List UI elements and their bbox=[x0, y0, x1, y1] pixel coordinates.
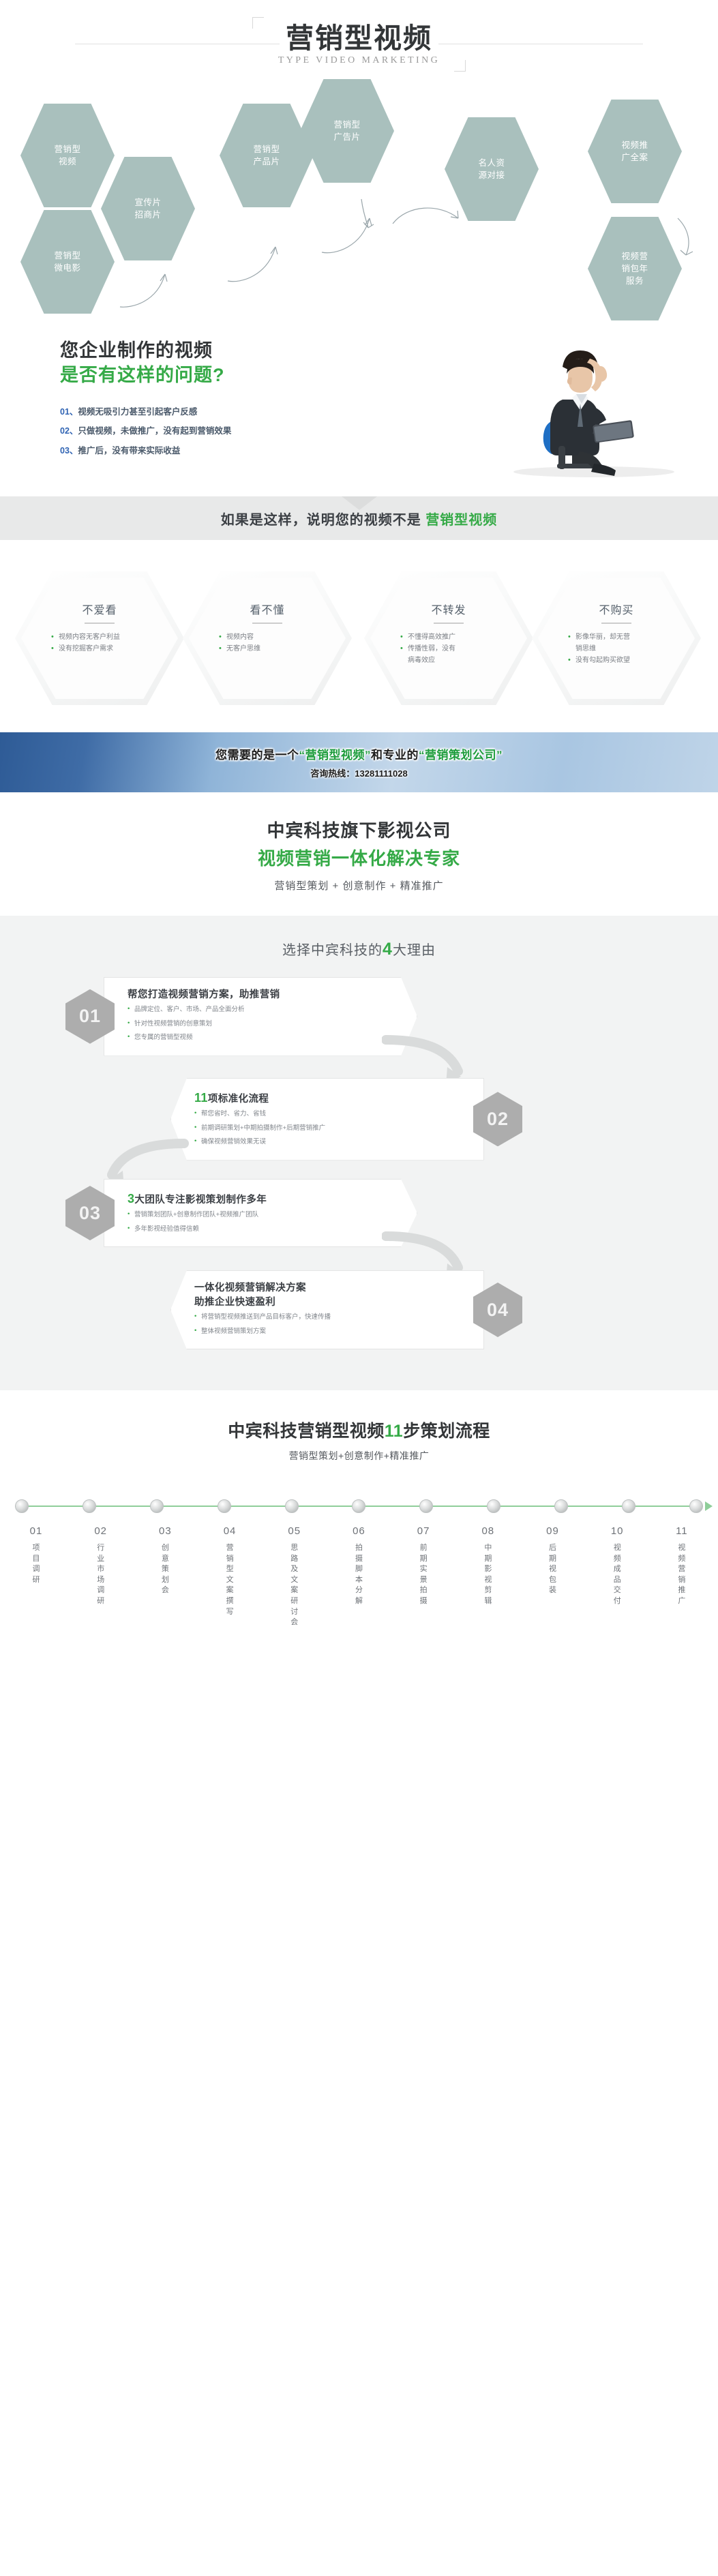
cta-headline-a: 您需要的是一个 bbox=[215, 749, 299, 762]
reason-2-card: 11项标准化流程 帮您省时、省力、省钱 前期调研策划+中期拍摄制作+后期营销推广… bbox=[170, 1078, 484, 1160]
reason-row-4[interactable]: 一体化视频营销解决方案 助推企业快速盈利 将营销型视频推送到产品目标客户，快速传… bbox=[170, 1270, 522, 1349]
businessman-photo bbox=[492, 318, 696, 478]
symptom-card-1-bullet-2: 没有挖掘客户需求 bbox=[51, 643, 148, 655]
symptom-card-3-bullet-2: 传播性弱，没有 bbox=[400, 643, 497, 655]
masthead-frame: 营销型视频 TYPE VIDEO MARKETING bbox=[252, 17, 466, 72]
step-6-label: 拍 摄 脚 本 分 解 bbox=[338, 1543, 380, 1607]
step-8-num: 08 bbox=[467, 1525, 509, 1537]
symptom-card-2-bullet-2: 无客户思维 bbox=[219, 643, 316, 655]
hex-marketing-video[interactable]: 营销型 视频 bbox=[20, 104, 115, 207]
reason-3-bullet-1: 营销策划团队+创意制作团队+视频推广团队 bbox=[128, 1209, 399, 1222]
symptom-card-1-title: 不爱看 bbox=[82, 601, 117, 617]
steps-subtitle: 营销型策划+创意制作+精准推广 bbox=[0, 1449, 718, 1463]
step-dot-2[interactable] bbox=[83, 1499, 96, 1513]
reason-4-heading: 一体化视频营销解决方案 助推企业快速盈利 bbox=[194, 1281, 466, 1310]
cta-quote-1: “营销型视频” bbox=[299, 749, 372, 762]
symptom-card-4[interactable]: 不购买 影像华丽，却无营 销思维 没有勾起购买欲望 bbox=[532, 571, 701, 705]
symptom-card-2-divider bbox=[252, 623, 282, 624]
problem-item-2-sep: 、 bbox=[70, 426, 78, 436]
hex-annual-service[interactable]: 视频营 销包年 服务 bbox=[588, 217, 682, 320]
reason-1-bullet-3: 您专属的营销型视频 bbox=[128, 1032, 399, 1045]
step-8-label: 中 期 影 视 剪 辑 bbox=[467, 1543, 509, 1607]
steps-title: 中宾科技营销型视频11步策划流程 bbox=[0, 1418, 718, 1442]
problem-item-1-num: 01 bbox=[60, 407, 70, 417]
connector-arrow-1 bbox=[117, 263, 179, 311]
grey-conclusion-strip: 如果是这样，说明您的视频不是 营销型视频 bbox=[0, 496, 718, 540]
reasons-title: 选择中宾科技的4大理由 bbox=[0, 939, 718, 959]
company-heading-1: 中宾科技旗下影视公司 bbox=[0, 817, 718, 842]
reason-3-bullet-2: 多年影视经验值得信赖 bbox=[128, 1223, 399, 1236]
step-11: 11视 频 营 销 推 广 bbox=[661, 1525, 703, 1628]
problem-item-1-text: 视频无吸引力甚至引起客户反感 bbox=[78, 407, 197, 417]
reason-2-heading-number: 11 bbox=[194, 1091, 208, 1105]
steps-labels: 01项 目 调 研 02行 业 市 场 调 研 03创 意 策 划 会 04营 … bbox=[15, 1525, 703, 1628]
cta-banner: 您需要的是一个“营销型视频”和专业的“营销策划公司” 咨询热线：13281111… bbox=[0, 732, 718, 792]
grey-strip-text: 如果是这样，说明您的视频不是 营销型视频 bbox=[221, 509, 498, 528]
symptom-card-2[interactable]: 看不懂 视频内容 无客户思维 bbox=[183, 571, 352, 705]
hex-promo-film[interactable]: 宣传片 招商片 bbox=[101, 157, 195, 260]
step-1-label: 项 目 调 研 bbox=[15, 1543, 57, 1585]
step-10: 10视 频 成 品 交 付 bbox=[596, 1525, 638, 1628]
reason-2-heading-text: 项标准化流程 bbox=[208, 1094, 269, 1105]
reason-3-heading-number: 3 bbox=[128, 1192, 134, 1205]
cta-quote-2: “营销策划公司” bbox=[419, 749, 503, 762]
steps-title-number: 11 bbox=[385, 1422, 403, 1441]
connector-arrow-4 bbox=[355, 198, 389, 239]
step-9: 09后 期 视 包 装 bbox=[532, 1525, 574, 1628]
masthead: 营销型视频 TYPE VIDEO MARKETING bbox=[0, 0, 718, 89]
reason-row-2[interactable]: 11项标准化流程 帮您省时、省力、省钱 前期调研策划+中期拍摄制作+后期营销推广… bbox=[170, 1078, 522, 1160]
step-10-num: 10 bbox=[596, 1525, 638, 1537]
symptom-card-3-title: 不转发 bbox=[431, 601, 466, 617]
step-6: 06拍 摄 脚 本 分 解 bbox=[338, 1525, 380, 1628]
step-7: 07前 期 实 景 拍 摄 bbox=[402, 1525, 445, 1628]
connector-arrow-6 bbox=[674, 215, 708, 263]
step-3-num: 03 bbox=[144, 1525, 186, 1537]
step-10-label: 视 频 成 品 交 付 bbox=[596, 1543, 638, 1607]
symptom-card-4-bullet-3: 没有勾起购买欲望 bbox=[568, 655, 665, 666]
symptom-card-2-bullet-1: 视频内容 bbox=[219, 631, 316, 643]
reason-row-1[interactable]: 01 帮您打造视频营销方案，助推营销 品牌定位、客户、市场、产品全面分析 针对性… bbox=[65, 977, 417, 1056]
symptom-card-1[interactable]: 不爱看 视频内容无客户利益 没有挖掘客户需求 bbox=[15, 571, 184, 705]
reason-3-heading-text: 大团队专注影视策划制作多年 bbox=[134, 1195, 267, 1205]
hex-promotion-plan[interactable]: 视频推 广全案 bbox=[588, 100, 682, 203]
step-3-label: 创 意 策 划 会 bbox=[144, 1543, 186, 1596]
symptom-card-2-title: 看不懂 bbox=[250, 601, 284, 617]
steps-timeline bbox=[15, 1493, 703, 1521]
company-heading-2: 视频营销一体化解决专家 bbox=[0, 845, 718, 870]
step-dot-5[interactable] bbox=[285, 1499, 299, 1513]
step-6-num: 06 bbox=[338, 1525, 380, 1537]
symptom-card-3-divider bbox=[434, 623, 464, 624]
reasons-title-a: 选择中宾科技的 bbox=[282, 943, 383, 958]
step-5-num: 05 bbox=[273, 1525, 316, 1537]
connector-arrow-5 bbox=[390, 202, 472, 236]
symptom-card-row: 不爱看 视频内容无客户利益 没有挖掘客户需求 看不懂 视频内容 无客户思维 不转… bbox=[0, 559, 718, 723]
step-dot-8[interactable] bbox=[487, 1499, 500, 1513]
grey-strip-highlight: 营销型视频 bbox=[425, 513, 497, 528]
step-3: 03创 意 策 划 会 bbox=[144, 1525, 186, 1628]
reasons-section: 选择中宾科技的4大理由 01 帮您打造视频营销方案，助推营销 品牌定位、客户、市… bbox=[0, 916, 718, 1390]
step-dot-11[interactable] bbox=[689, 1499, 703, 1513]
problem-item-3-num: 03 bbox=[60, 446, 70, 455]
steps-title-b: 步策划流程 bbox=[403, 1422, 490, 1441]
step-5: 05思 路 及 文 案 研 讨 会 bbox=[273, 1525, 316, 1628]
step-8: 08中 期 影 视 剪 辑 bbox=[467, 1525, 509, 1628]
symptom-card-4-bullet-1: 影像华丽，却无营 bbox=[568, 631, 665, 643]
marketing-landing-page: 营销型视频 TYPE VIDEO MARKETING 营销型 视频 宣传片 招商… bbox=[0, 0, 718, 1662]
symptom-card-1-bullet-1: 视频内容无客户利益 bbox=[51, 631, 148, 643]
steps-title-a: 中宾科技营销型视频 bbox=[228, 1422, 385, 1441]
reason-2-heading: 11项标准化流程 bbox=[194, 1089, 466, 1107]
problem-item-1-sep: 、 bbox=[70, 407, 78, 417]
problem-section: 您企业制作的视频 是否有这样的问题? 01、视频无吸引力甚至引起客户反感 02、… bbox=[0, 320, 718, 477]
reason-2-bullet-2: 前期调研策划+中期拍摄制作+后期营销推广 bbox=[194, 1122, 466, 1135]
process-steps-section: 中宾科技营销型视频11步策划流程 营销型策划+创意制作+精准推广 01项 目 调 bbox=[0, 1390, 718, 1662]
symptom-card-1-divider bbox=[85, 623, 115, 624]
reason-4-bullet-1: 将营销型视频推送到产品目标客户，快速传播 bbox=[194, 1311, 466, 1324]
reason-4-bullet-2: 整体视频营销策划方案 bbox=[194, 1326, 466, 1338]
step-4-num: 04 bbox=[209, 1525, 251, 1537]
problem-item-2-text: 只做视频，未做推广，没有起到营销效果 bbox=[78, 426, 231, 436]
step-7-num: 07 bbox=[402, 1525, 445, 1537]
strip-notch bbox=[342, 496, 377, 510]
reason-2-bullet-1: 帮您省时、省力、省钱 bbox=[194, 1108, 466, 1121]
company-heading-3: 营销型策划 + 创意制作 + 精准推广 bbox=[0, 878, 718, 893]
company-intro: 中宾科技旗下影视公司 视频营销一体化解决专家 营销型策划 + 创意制作 + 精准… bbox=[0, 792, 718, 916]
hex-ad-film[interactable]: 营销型 广告片 bbox=[300, 79, 394, 183]
symptom-card-4-divider bbox=[601, 623, 631, 624]
symptom-card-4-title: 不购买 bbox=[599, 601, 633, 617]
grey-strip-lead: 如果是这样，说明您的视频不是 bbox=[221, 513, 426, 528]
step-11-num: 11 bbox=[661, 1525, 703, 1537]
reason-row-3[interactable]: 03 3大团队专注影视策划制作多年 营销策划团队+创意制作团队+视频推广团队 多… bbox=[65, 1179, 417, 1247]
step-9-label: 后 期 视 包 装 bbox=[532, 1543, 574, 1596]
problem-item-2-num: 02 bbox=[60, 426, 70, 436]
step-dot-10[interactable] bbox=[622, 1499, 635, 1513]
masthead-rule-left bbox=[75, 44, 280, 44]
reason-2-bullet-3: 确保视频营销效果无误 bbox=[194, 1136, 466, 1149]
step-dot-3[interactable] bbox=[150, 1499, 164, 1513]
service-hex-cloud: 营销型 视频 宣传片 招商片 营销型 微电影 营销型 产品片 营销型 广告片 名… bbox=[0, 89, 718, 320]
reason-1-bullet-1: 品牌定位、客户、市场、产品全面分析 bbox=[128, 1004, 399, 1017]
cta-headline-b: 和专业的 bbox=[371, 749, 419, 762]
reason-1-heading: 帮您打造视频营销方案，助推营销 bbox=[128, 988, 399, 1002]
step-dot-4[interactable] bbox=[218, 1499, 231, 1513]
step-4-label: 营 销 型 文 案 撰 写 bbox=[209, 1543, 251, 1617]
step-dot-1[interactable] bbox=[15, 1499, 29, 1513]
symptom-card-3-bullet-3: 病毒效应 bbox=[400, 655, 497, 666]
symptom-card-3-bullet-1: 不懂得高效推广 bbox=[400, 631, 497, 643]
step-9-num: 09 bbox=[532, 1525, 574, 1537]
step-1: 01项 目 调 研 bbox=[15, 1525, 57, 1628]
reasons-title-number: 4 bbox=[383, 940, 393, 959]
cta-headline: 您需要的是一个“营销型视频”和专业的“营销策划公司” bbox=[215, 745, 503, 762]
step-dot-9[interactable] bbox=[554, 1499, 568, 1513]
connector-arrow-2 bbox=[225, 239, 293, 286]
step-4: 04营 销 型 文 案 撰 写 bbox=[209, 1525, 251, 1628]
hex-micro-film[interactable]: 营销型 微电影 bbox=[20, 210, 115, 314]
step-dot-7[interactable] bbox=[419, 1499, 433, 1513]
steps-timeline-dots bbox=[15, 1499, 703, 1513]
reason-4-card: 一体化视频营销解决方案 助推企业快速盈利 将营销型视频推送到产品目标客户，快速传… bbox=[170, 1270, 484, 1349]
problem-item-3-sep: 、 bbox=[70, 446, 78, 455]
step-7-label: 前 期 实 景 拍 摄 bbox=[402, 1543, 445, 1607]
reasons-title-b: 大理由 bbox=[393, 943, 436, 958]
steps-timeline-arrow-icon bbox=[705, 1501, 713, 1511]
symptom-card-4-bullet-2: 销思维 bbox=[568, 643, 665, 655]
cta-hotline[interactable]: 咨询热线：13281111028 bbox=[310, 766, 407, 779]
step-2-label: 行 业 市 场 调 研 bbox=[80, 1543, 122, 1607]
step-5-label: 思 路 及 文 案 研 讨 会 bbox=[273, 1543, 316, 1628]
symptom-card-3[interactable]: 不转发 不懂得高效推广 传播性弱，没有 病毒效应 bbox=[364, 571, 533, 705]
reason-1-card: 帮您打造视频营销方案，助推营销 品牌定位、客户、市场、产品全面分析 针对性视频营… bbox=[104, 977, 417, 1056]
step-1-num: 01 bbox=[15, 1525, 57, 1537]
reason-3-card: 3大团队专注影视策划制作多年 营销策划团队+创意制作团队+视频推广团队 多年影视… bbox=[104, 1179, 417, 1247]
step-2-num: 02 bbox=[80, 1525, 122, 1537]
problem-item-3-text: 推广后，没有带来实际收益 bbox=[78, 446, 180, 455]
hex-product-film[interactable]: 营销型 产品片 bbox=[220, 104, 314, 207]
step-2: 02行 业 市 场 调 研 bbox=[80, 1525, 122, 1628]
reason-3-heading: 3大团队专注影视策划制作多年 bbox=[128, 1190, 399, 1208]
page-subtitle: TYPE VIDEO MARKETING bbox=[278, 55, 440, 66]
reasons-list: 01 帮您打造视频营销方案，助推营销 品牌定位、客户、市场、产品全面分析 针对性… bbox=[0, 977, 718, 1359]
page-title: 营销型视频 bbox=[278, 24, 440, 53]
reason-1-bullet-2: 针对性视频营销的创意策划 bbox=[128, 1018, 399, 1031]
step-11-label: 视 频 营 销 推 广 bbox=[661, 1543, 703, 1607]
masthead-rule-right bbox=[438, 44, 643, 44]
step-dot-6[interactable] bbox=[352, 1499, 365, 1513]
